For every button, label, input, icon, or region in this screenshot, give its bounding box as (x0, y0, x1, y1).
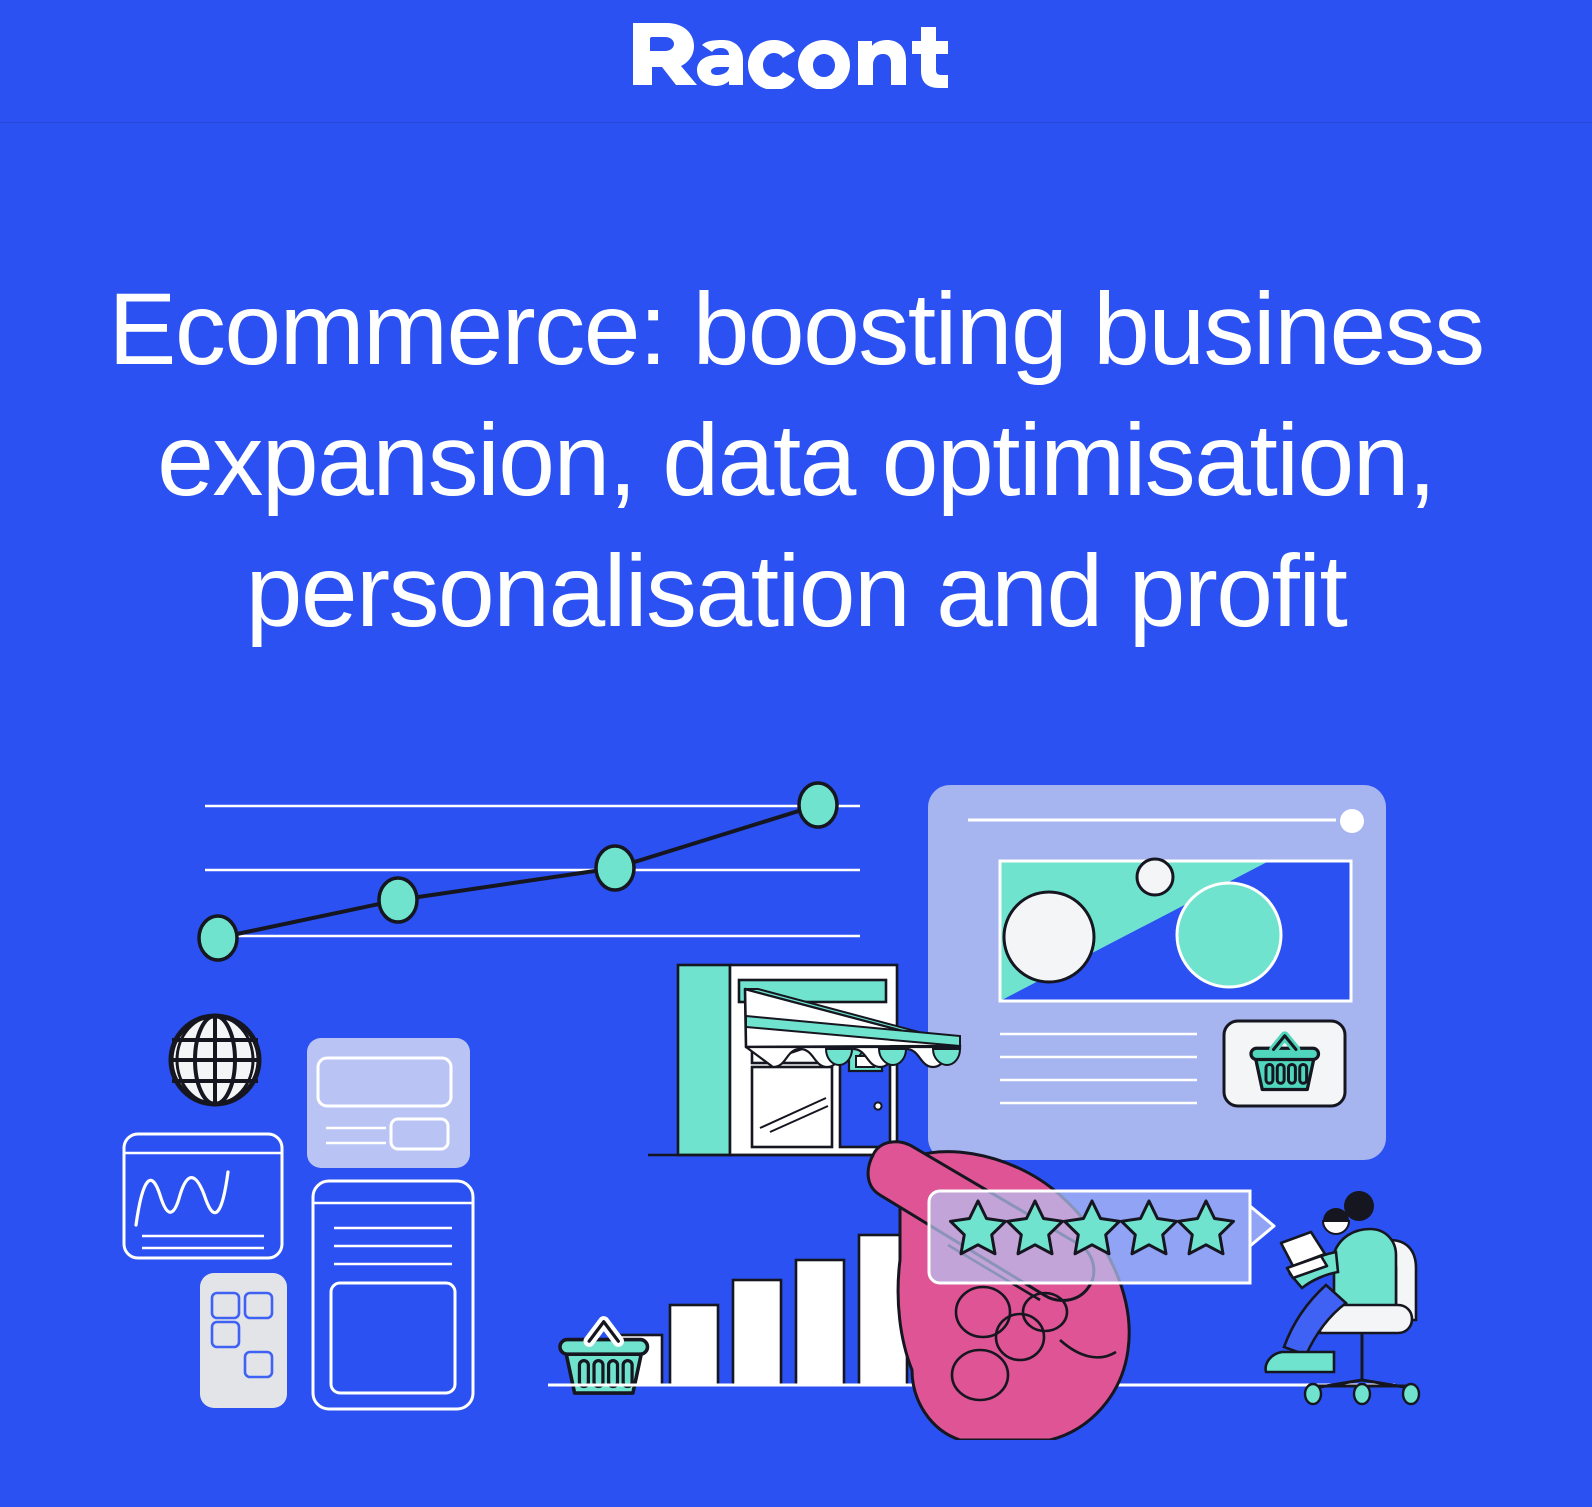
page-headline: Ecommerce: boosting business expansion, … (10, 264, 1582, 657)
page-root: Ecommerce: boosting business expansion, … (0, 0, 1592, 1507)
bar (796, 1260, 844, 1385)
raconteur-wordmark-icon (631, 17, 961, 89)
pointing-hand-illustration (868, 1142, 1129, 1440)
site-header (0, 0, 1592, 123)
analytics-card[interactable] (124, 1134, 282, 1258)
brand-logo[interactable] (0, 17, 1592, 89)
document-card[interactable] (313, 1181, 473, 1409)
bar (670, 1305, 718, 1385)
product-hero-image (1000, 859, 1351, 1001)
app-tiles-panel[interactable] (200, 1273, 287, 1408)
payment-card-mockup[interactable] (307, 1038, 470, 1168)
person-at-desk-illustration (1266, 1191, 1419, 1404)
star-rating-bubble[interactable] (929, 1191, 1274, 1283)
window-dot (1340, 809, 1364, 833)
globe-icon (171, 1016, 259, 1104)
storefront-illustration (648, 965, 962, 1155)
shopping-basket-icon (560, 1322, 647, 1393)
basket-button[interactable] (1224, 1021, 1345, 1106)
growth-line-chart (199, 783, 860, 960)
ecommerce-hero-illustration (0, 740, 1592, 1440)
line-chart-point (199, 783, 837, 960)
browser-window-mockup[interactable] (928, 785, 1386, 1160)
sales-bar-chart (614, 1235, 907, 1385)
bar (733, 1280, 781, 1385)
